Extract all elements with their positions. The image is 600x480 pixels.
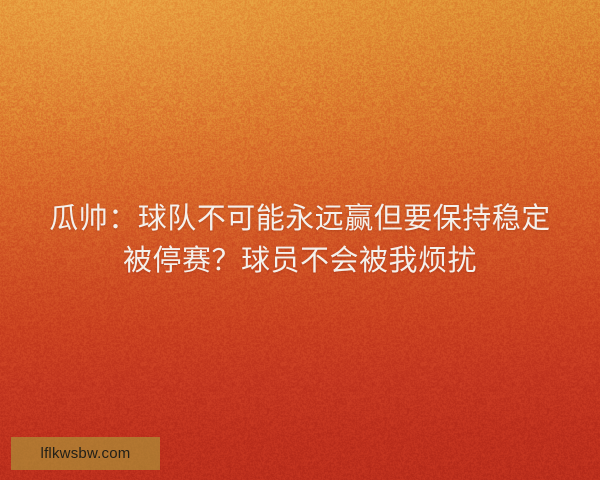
headline-line-2: 被停赛？球员不会被我烦扰	[20, 240, 580, 282]
headline-line-1: 瓜帅：球队不可能永远赢但要保持稳定	[20, 198, 580, 240]
headline-text-block: 瓜帅：球队不可能永远赢但要保持稳定 被停赛？球员不会被我烦扰	[0, 198, 600, 282]
watermark-url-text: lflkwsbw.com	[41, 446, 131, 461]
watermark-badge: lflkwsbw.com	[11, 437, 160, 470]
news-image-card: 瓜帅：球队不可能永远赢但要保持稳定 被停赛？球员不会被我烦扰 lflkwsbw.…	[0, 0, 600, 480]
